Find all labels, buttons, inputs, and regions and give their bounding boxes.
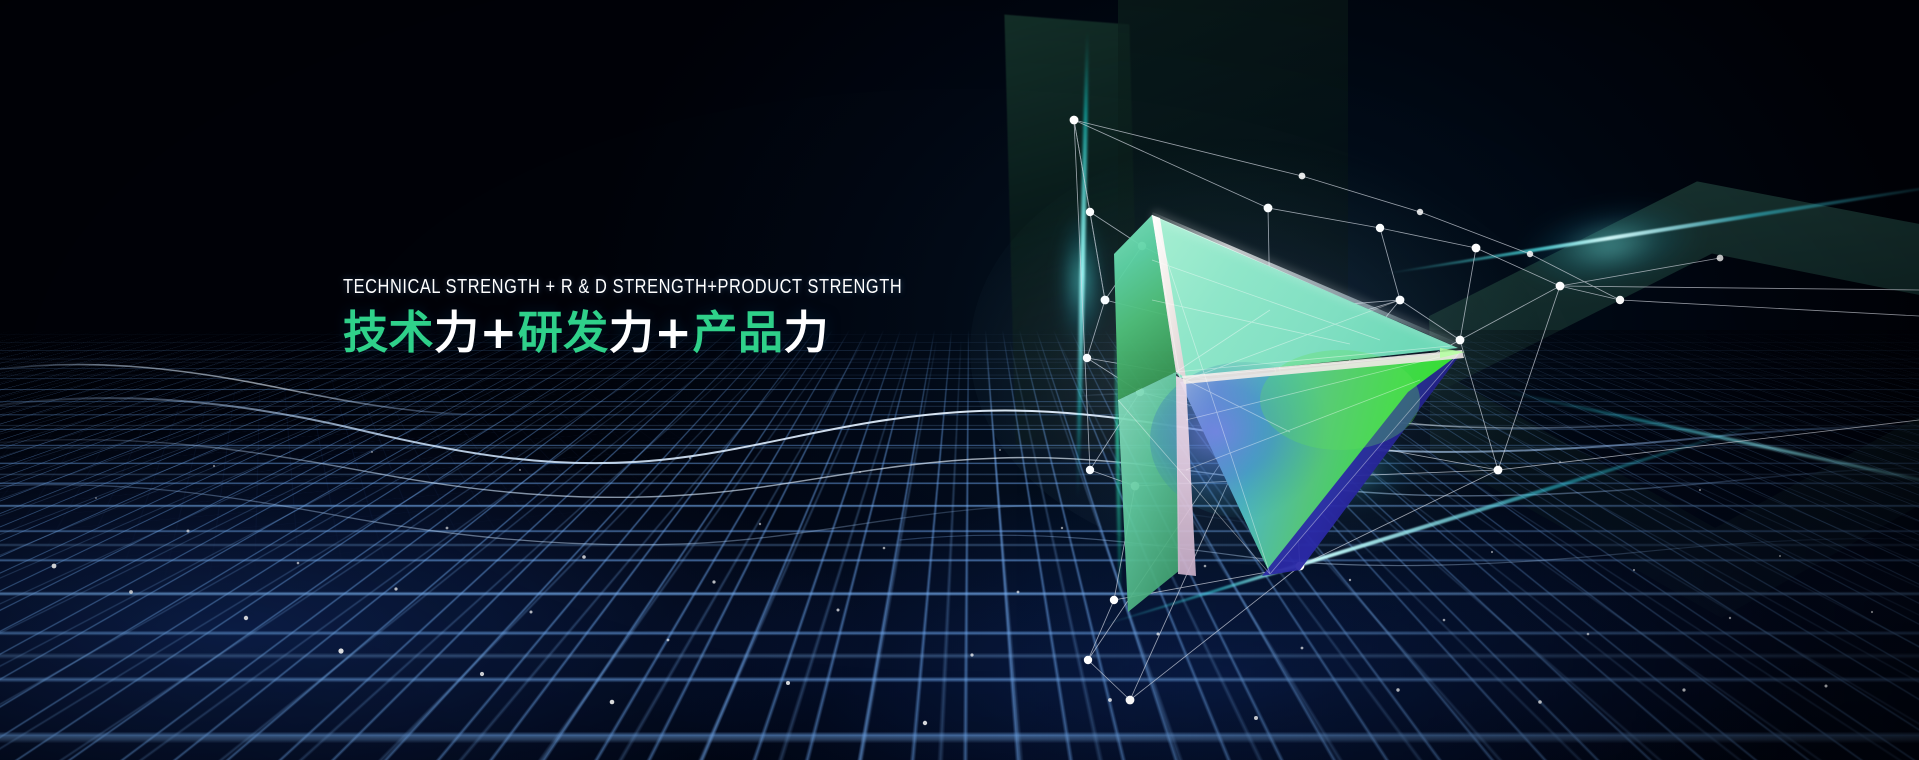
wave-mesh-glow xyxy=(0,330,1919,760)
headline-seg-technical: 技术 xyxy=(343,306,434,359)
headline-seg-product: 产品 xyxy=(693,306,784,359)
prism-face-left-lower xyxy=(1118,372,1180,612)
prism-internal-lines xyxy=(1118,215,1460,574)
network-wireframe-layer xyxy=(0,0,1919,760)
prism-face-blue-shadow xyxy=(1262,352,1462,576)
prism-arrow-graphic xyxy=(0,0,1919,760)
network-nodes xyxy=(1070,116,1724,705)
network-edges xyxy=(1074,120,1919,700)
hero-banner: TECHNICAL STRENGTH + R & D STRENGTH+PROD… xyxy=(0,0,1919,760)
wave-ridge-lines xyxy=(0,365,1919,566)
light-streak-vertical-glow xyxy=(1048,180,1114,380)
dark-arrow-shape-lower xyxy=(1430,330,1919,690)
vignette-overlay xyxy=(0,0,1919,760)
light-streak-green-vertical xyxy=(1114,330,1123,610)
hero-headline: 技术力+研发力+产品力 xyxy=(343,309,1042,358)
wave-mesh-fade-mask xyxy=(0,330,1919,760)
wave-mesh-terrain xyxy=(0,330,1919,760)
light-streak-vertical xyxy=(1075,30,1090,500)
hero-eyebrow-text: TECHNICAL STRENGTH + R & D STRENGTH+PROD… xyxy=(343,277,902,298)
background-grid xyxy=(0,358,988,639)
prism-ridge-horizontal xyxy=(1182,350,1464,384)
prism-ridge-lower xyxy=(1176,376,1196,576)
prism-face-top xyxy=(1152,215,1450,378)
prism-inner-blue-glow xyxy=(1150,362,1340,518)
headline-plus-1: + xyxy=(480,306,518,359)
prism-tip-highlight xyxy=(1440,348,1465,358)
light-streak-lower-right xyxy=(1095,415,1785,629)
prism-top-edge-highlight xyxy=(1152,214,1460,346)
prism-top-edge-glow xyxy=(1152,214,1460,346)
wave-particles xyxy=(52,449,1874,725)
light-streak-far-right xyxy=(1485,386,1919,497)
dark-arrow-shape-upper xyxy=(1424,169,1919,520)
headline-plus-2: + xyxy=(654,306,692,359)
light-streak-upper-glow xyxy=(1515,191,1705,298)
light-streak-upper-right xyxy=(1383,178,1919,276)
prism-ridge-upper xyxy=(1152,215,1186,378)
headline-seg-li-1: 力 xyxy=(434,306,480,359)
prism-inner-green-glow xyxy=(1260,350,1420,450)
hero-text-block: TECHNICAL STRENGTH + R & D STRENGTH+PROD… xyxy=(343,277,1042,357)
headline-seg-li-3: 力 xyxy=(784,306,830,359)
headline-seg-li-2: 力 xyxy=(609,306,655,359)
prism-face-top-extend xyxy=(1152,215,1458,378)
dark-slab-left xyxy=(1004,15,1140,456)
dark-slab-mid xyxy=(1118,0,1348,480)
prism-face-left-upper xyxy=(1114,215,1176,400)
light-streak-lower-glow xyxy=(1250,430,1420,510)
prism-face-bottom xyxy=(1180,352,1460,574)
wave-ridge-and-particles-layer xyxy=(0,0,1919,760)
headline-seg-rnd: 研发 xyxy=(518,306,609,359)
